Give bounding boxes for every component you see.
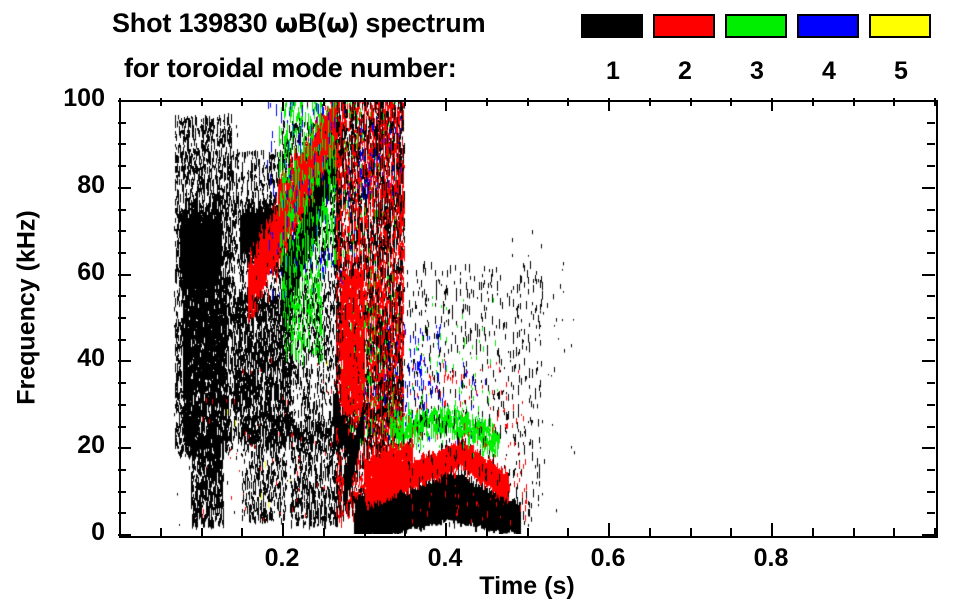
x-tick — [853, 98, 855, 106]
x-tick — [201, 98, 203, 106]
x-tick — [730, 528, 732, 536]
y-tick — [118, 100, 131, 102]
y-tick — [927, 209, 935, 211]
x-axis-label: Time (s) — [417, 572, 637, 601]
x-tick — [404, 528, 406, 536]
y-tick — [118, 512, 126, 514]
y-tick-label: 100 — [35, 86, 105, 111]
plot-frame — [119, 100, 938, 538]
x-tick — [771, 523, 773, 536]
x-tick — [527, 98, 529, 106]
title-spectrum-text: ) spectrum — [349, 8, 485, 38]
y-tick — [118, 382, 126, 384]
y-tick — [922, 274, 935, 276]
legend-item-mode-3[interactable]: 3 — [725, 14, 789, 38]
y-tick — [118, 230, 126, 232]
legend: 12345 — [581, 14, 933, 86]
y-tick — [922, 447, 935, 449]
x-tick — [649, 98, 651, 106]
y-tick-label: 0 — [35, 520, 105, 545]
y-tick — [922, 100, 935, 102]
x-tick — [527, 528, 529, 536]
omega-symbol-1: ω — [275, 8, 298, 39]
chart-title-line-1: Shot 139830 ωB(ω) spectrum — [112, 8, 485, 39]
y-tick — [927, 317, 935, 319]
y-tick — [927, 512, 935, 514]
x-tick — [567, 528, 569, 536]
x-tick-label: 0.8 — [716, 546, 826, 571]
legend-item-mode-4[interactable]: 4 — [797, 14, 861, 38]
y-tick — [118, 339, 126, 341]
y-tick — [118, 274, 131, 276]
legend-label-mode-5: 5 — [869, 59, 933, 84]
y-tick — [118, 447, 131, 449]
legend-swatch-mode-2 — [653, 14, 715, 38]
legend-swatch-mode-4 — [797, 14, 859, 38]
y-tick — [927, 252, 935, 254]
x-tick-label: 0.6 — [553, 546, 663, 571]
x-tick-label: 0.4 — [390, 546, 500, 571]
y-tick-label: 40 — [35, 346, 105, 371]
y-tick — [118, 317, 126, 319]
y-tick-label: 60 — [35, 260, 105, 285]
x-tick-label: 0.2 — [227, 546, 337, 571]
y-tick-label: 20 — [35, 433, 105, 458]
x-tick — [853, 528, 855, 536]
legend-label-mode-2: 2 — [653, 59, 717, 84]
y-tick — [922, 187, 935, 189]
y-tick — [118, 187, 131, 189]
legend-item-mode-2[interactable]: 2 — [653, 14, 717, 38]
x-tick — [282, 523, 284, 536]
x-tick — [608, 98, 610, 111]
y-tick-label: 80 — [35, 173, 105, 198]
y-tick — [118, 491, 126, 493]
x-tick — [893, 98, 895, 106]
y-tick — [118, 143, 126, 145]
x-tick — [486, 98, 488, 106]
x-tick — [323, 98, 325, 106]
y-axis-label: Frequency (kHz) — [13, 193, 42, 423]
y-tick — [927, 469, 935, 471]
omega-symbol-2: ω — [326, 8, 349, 39]
x-tick — [404, 98, 406, 106]
y-tick — [118, 360, 131, 362]
x-tick — [364, 98, 366, 106]
legend-swatch-mode-5 — [869, 14, 931, 38]
x-tick — [445, 98, 447, 111]
x-tick — [812, 528, 814, 536]
legend-swatch-mode-1 — [581, 14, 643, 38]
y-tick — [927, 491, 935, 493]
x-tick — [160, 98, 162, 106]
y-tick — [118, 209, 126, 211]
x-tick — [445, 523, 447, 536]
y-tick — [927, 143, 935, 145]
y-tick — [927, 339, 935, 341]
y-tick — [927, 295, 935, 297]
y-tick — [927, 404, 935, 406]
legend-label-mode-1: 1 — [581, 59, 645, 84]
x-tick — [241, 98, 243, 106]
y-tick — [118, 534, 131, 536]
x-tick — [282, 98, 284, 111]
chart-root: Shot 139830 ωB(ω) spectrum for toroidal … — [0, 0, 963, 615]
x-tick — [323, 528, 325, 536]
y-tick — [927, 426, 935, 428]
chart-title-line-2: for toroidal mode number: — [124, 53, 457, 84]
x-tick — [486, 528, 488, 536]
x-tick — [608, 523, 610, 536]
x-tick — [649, 528, 651, 536]
x-tick — [364, 528, 366, 536]
y-tick — [927, 382, 935, 384]
x-tick — [201, 528, 203, 536]
y-tick — [118, 122, 126, 124]
legend-swatch-mode-3 — [725, 14, 787, 38]
x-tick — [690, 528, 692, 536]
y-tick — [927, 230, 935, 232]
legend-label-mode-4: 4 — [797, 59, 861, 84]
x-tick — [812, 98, 814, 106]
x-tick — [241, 528, 243, 536]
y-tick — [922, 534, 935, 536]
y-tick — [118, 404, 126, 406]
y-tick — [118, 469, 126, 471]
title-shot-text: Shot 139830 — [112, 8, 275, 38]
x-tick — [690, 98, 692, 106]
legend-label-mode-3: 3 — [725, 59, 789, 84]
y-tick — [118, 165, 126, 167]
y-tick — [118, 252, 126, 254]
y-tick — [118, 426, 126, 428]
legend-item-mode-5[interactable]: 5 — [869, 14, 933, 38]
x-tick — [893, 528, 895, 536]
x-tick — [730, 98, 732, 106]
title-b-open: B( — [298, 8, 326, 38]
y-tick — [927, 122, 935, 124]
legend-item-mode-1[interactable]: 1 — [581, 14, 645, 38]
x-tick — [771, 98, 773, 111]
x-tick — [567, 98, 569, 106]
y-tick — [927, 165, 935, 167]
y-tick — [922, 360, 935, 362]
y-tick — [118, 295, 126, 297]
x-tick — [160, 528, 162, 536]
